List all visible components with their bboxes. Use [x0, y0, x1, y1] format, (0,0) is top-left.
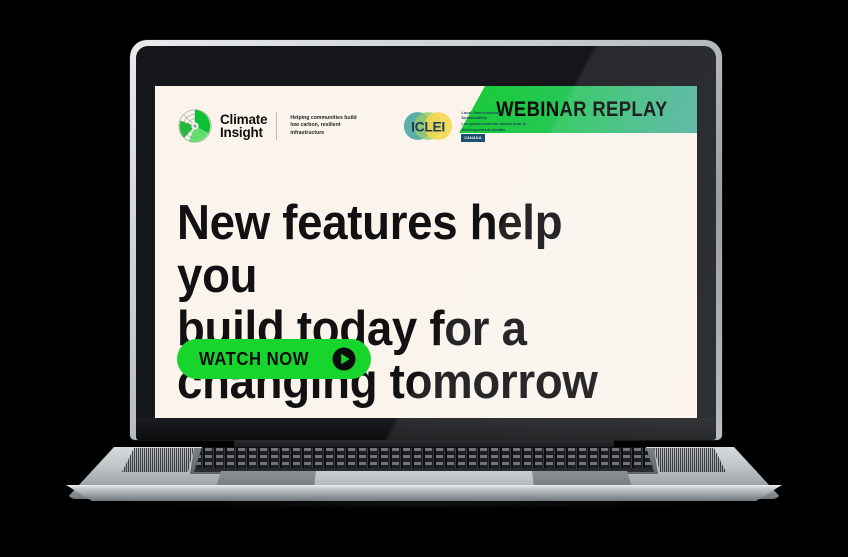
- palmrest: [216, 471, 632, 487]
- svg-text:ICLEI: ICLEI: [412, 119, 446, 135]
- climate-insight-radar-mark: [177, 108, 213, 144]
- play-circle-icon: [332, 347, 356, 371]
- iclei-tagline-en: Local Governments for Sustainability: [461, 110, 529, 121]
- iclei-three-circles-mark: ICLEI: [402, 109, 454, 143]
- trackpad-left-shade: [216, 471, 316, 487]
- bezel-chin: [136, 418, 716, 440]
- climate-insight-tagline: Helping communities build low carbon, re…: [290, 115, 364, 137]
- climate-insight-wordmark: Climate Insight: [220, 113, 267, 139]
- laptop-lid: WEBINAR REPLAY: [130, 40, 722, 440]
- base-under-shadow: [106, 497, 742, 509]
- iclei-tagline-block: Local Governments for Sustainability Les…: [461, 110, 529, 142]
- brand-logo-row: Climate Insight Helping communities buil…: [177, 108, 529, 144]
- iclei-tagline-fr: Les gouvernements locaux pour le dévelop…: [461, 121, 529, 132]
- keyboard[interactable]: [194, 447, 654, 472]
- laptop-base: [66, 433, 782, 515]
- watch-now-label: WATCH NOW: [199, 348, 309, 370]
- watch-now-button[interactable]: WATCH NOW: [177, 339, 371, 379]
- iclei-country-badge: CANADA: [461, 134, 484, 142]
- keyboard-rows: [194, 447, 654, 472]
- screen-content: WEBINAR REPLAY: [155, 86, 697, 418]
- iclei-logo: ICLEI Local Governments for Sustainabili…: [402, 109, 529, 143]
- speaker-grille-right: [654, 448, 726, 472]
- logo-divider: [276, 112, 277, 140]
- headline-line-1: New features help you: [177, 197, 614, 303]
- trackpad-right-shade: [532, 471, 632, 487]
- laptop-bezel: WEBINAR REPLAY: [136, 46, 716, 440]
- climate-insight-logo: Climate Insight Helping communities buil…: [177, 108, 364, 144]
- speaker-grille-left: [122, 448, 194, 472]
- laptop-mockup-stage: WEBINAR REPLAY: [0, 0, 848, 557]
